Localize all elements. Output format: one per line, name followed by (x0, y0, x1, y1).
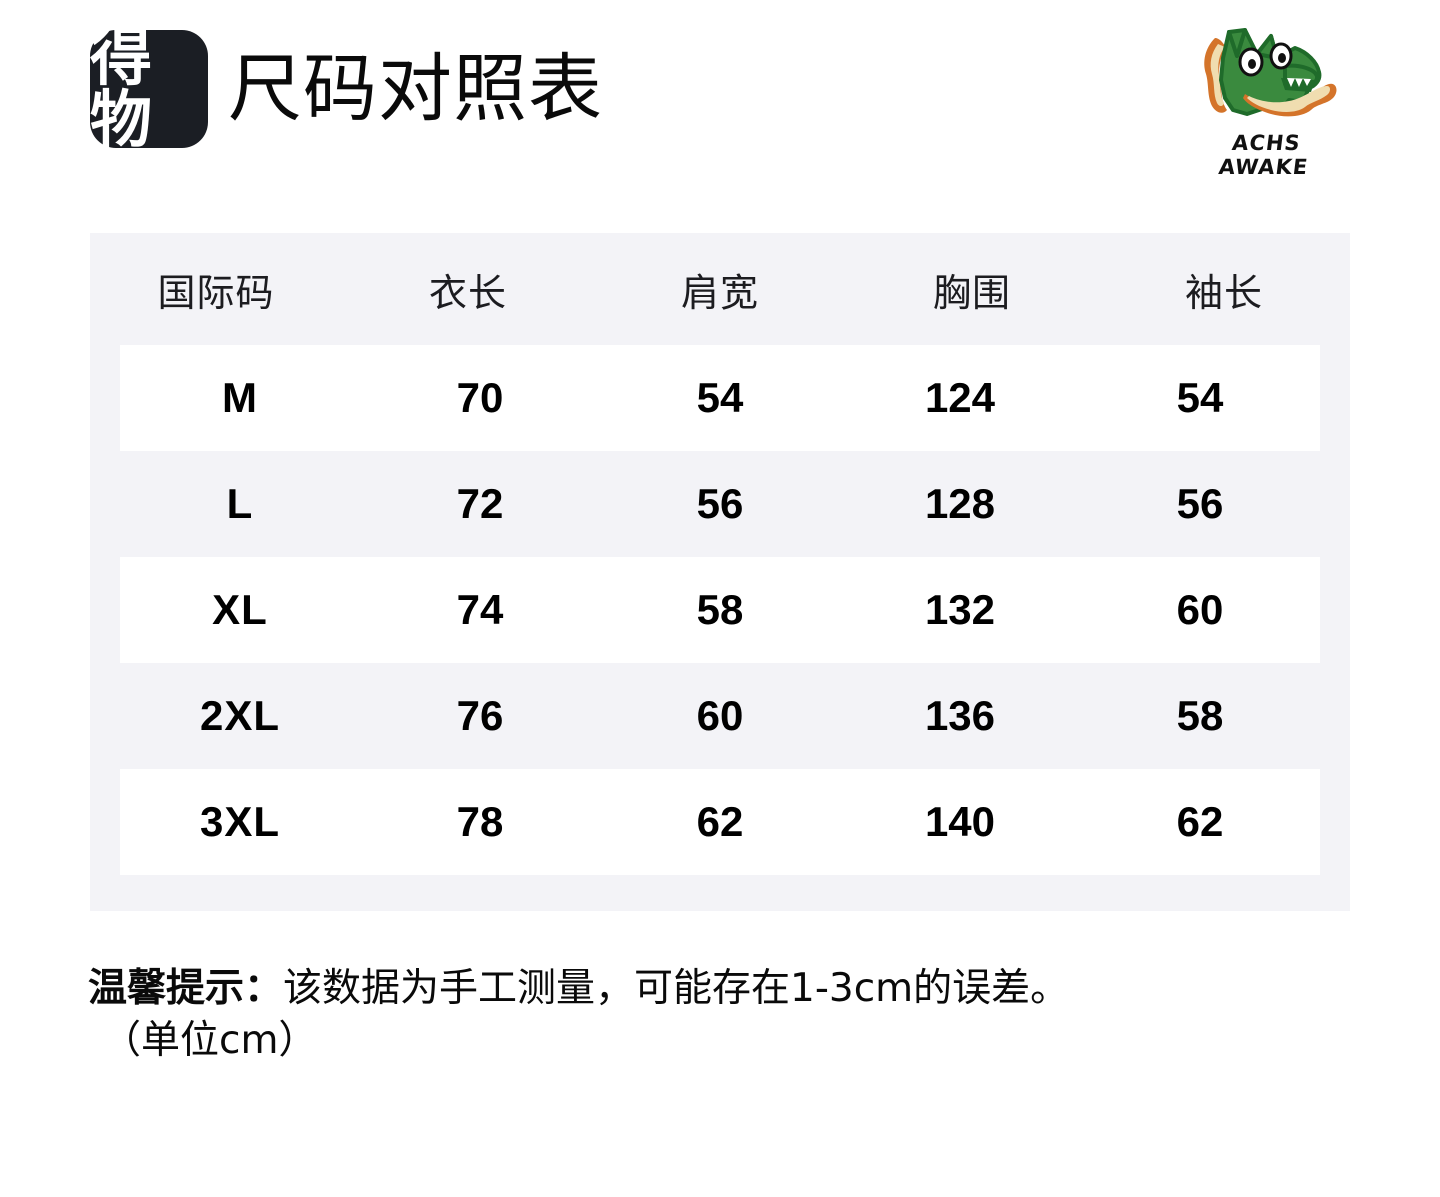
cell-sleeve: 60 (1080, 586, 1320, 634)
page-header: 得物 尺码对照表 ACHS AWA (0, 0, 1440, 200)
green-wolf-head-icon (1185, 14, 1345, 129)
table-row: 3XL 78 62 140 62 (120, 769, 1320, 875)
page-title: 尺码对照表 (228, 52, 603, 126)
note-label: 温馨提示： (88, 966, 283, 1011)
cell-sleeve: 62 (1080, 798, 1320, 846)
cell-chest: 124 (840, 374, 1080, 422)
cell-size: L (120, 480, 360, 528)
cell-sleeve: 54 (1080, 374, 1320, 422)
cell-shoulder: 62 (600, 798, 840, 846)
cell-size: M (120, 374, 360, 422)
cell-chest: 136 (840, 692, 1080, 740)
table-row: 2XL 76 60 136 58 (120, 663, 1320, 769)
mascot-caption: ACHS AWAKE (1182, 131, 1348, 179)
column-header-chest: 胸围 (846, 262, 1098, 317)
cell-size: XL (120, 586, 360, 634)
size-chart-table: 国际码 衣长 肩宽 胸围 袖长 M 70 54 124 54 L 72 56 1… (90, 233, 1350, 911)
table-row: M 70 54 124 54 (120, 345, 1320, 451)
table-body: M 70 54 124 54 L 72 56 128 56 XL 74 58 1… (90, 345, 1350, 911)
cell-shoulder: 60 (600, 692, 840, 740)
column-header-length: 衣长 (342, 262, 594, 317)
column-header-shoulder: 肩宽 (594, 262, 846, 317)
measurement-note: 温馨提示：该数据为手工测量，可能存在1-3cm的误差。 （单位cm） (88, 963, 1368, 1068)
column-header-sleeve: 袖长 (1098, 262, 1350, 317)
cell-chest: 140 (840, 798, 1080, 846)
dewu-logo-badge: 得物 (90, 30, 208, 148)
cell-size: 3XL (120, 798, 360, 846)
cell-sleeve: 58 (1080, 692, 1320, 740)
table-header-row: 国际码 衣长 肩宽 胸围 袖长 (90, 233, 1350, 345)
cell-length: 74 (360, 586, 600, 634)
cell-sleeve: 56 (1080, 480, 1320, 528)
brand-block: 得物 尺码对照表 (90, 30, 603, 148)
cell-shoulder: 58 (600, 586, 840, 634)
cell-size: 2XL (120, 692, 360, 740)
cell-length: 78 (360, 798, 600, 846)
table-row: XL 74 58 132 60 (120, 557, 1320, 663)
dewu-logo-text: 得物 (90, 27, 208, 151)
cell-length: 76 (360, 692, 600, 740)
column-header-size: 国际码 (90, 262, 342, 317)
cell-chest: 128 (840, 480, 1080, 528)
cell-chest: 132 (840, 586, 1080, 634)
note-unit: （单位cm） (102, 1015, 1368, 1067)
cell-length: 70 (360, 374, 600, 422)
note-body: 该数据为手工测量，可能存在1-3cm的误差。 (283, 966, 1069, 1011)
cell-shoulder: 54 (600, 374, 840, 422)
wolf-pupil-right (1278, 53, 1286, 63)
wolf-pupil-left (1248, 59, 1256, 69)
brand-mascot: ACHS AWAKE (1185, 14, 1345, 169)
table-row: L 72 56 128 56 (120, 451, 1320, 557)
cell-length: 72 (360, 480, 600, 528)
cell-shoulder: 56 (600, 480, 840, 528)
